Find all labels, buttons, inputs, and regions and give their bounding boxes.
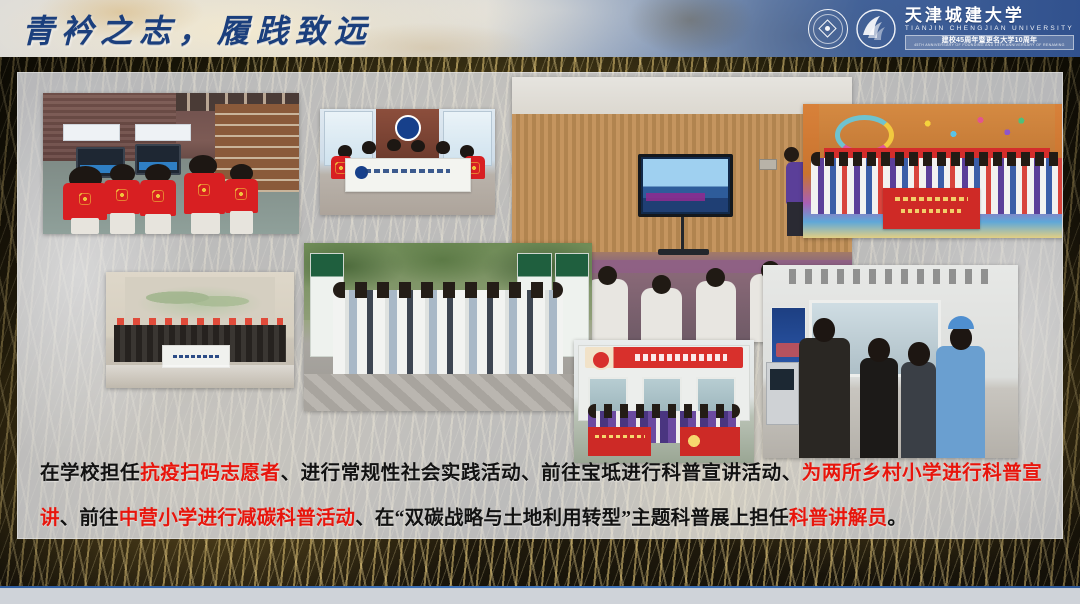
photo-village-service-center	[574, 340, 754, 463]
caption-segment-5: 中营小学进行减碳科普活动	[119, 508, 355, 529]
photo-outdoor-group	[304, 243, 592, 411]
photo-hall-group	[106, 272, 294, 388]
university-name-cn: 天津城建大学	[905, 7, 1074, 25]
slide-caption: 在学校担任抗疫扫码志愿者、进行常规性社会实践活动、前往宝坻进行科普宣讲活动、为两…	[40, 451, 1042, 539]
seal-core-icon	[819, 19, 837, 37]
photo-primary-school-group	[803, 104, 1063, 238]
photo-collage	[18, 73, 1063, 428]
university-logo-group: 天津城建大学 TIANJIN CHENGJIAN UNIVERSITY 建校45…	[808, 5, 1074, 52]
caption-segment-1: 抗疫扫码志愿者	[140, 463, 280, 484]
photo-scene	[803, 104, 1063, 238]
page-title: 青衿之志，履践致远	[22, 6, 373, 52]
slide-root: 青衿之志，履践致远 天津城建大学 TIANJIN CHENGJIAN UNIVE…	[0, 0, 1080, 588]
photo-service-hall-queue	[763, 265, 1018, 458]
footer-strip	[0, 589, 1080, 604]
photo-scene	[574, 340, 754, 463]
university-wave-mark-icon	[855, 8, 897, 50]
content-panel: 在学校担任抗疫扫码志愿者、进行常规性社会实践活动、前往宝坻进行科普宣讲活动、为两…	[17, 72, 1063, 539]
caption-segment-6: 、在“双碳战略与土地利用转型”主题科普展上担任	[355, 508, 789, 529]
photo-scene	[106, 272, 294, 388]
caption-segment-2: 、进行常规性社会实践活动、前往宝坻进行科普宣讲活动、	[281, 463, 802, 484]
photo-scene	[763, 265, 1018, 458]
photo-scene	[320, 109, 495, 215]
anniversary-label-en: 45TH ANNIVERSARY OF FOUNDING AND 10TH AN…	[914, 44, 1065, 48]
photo-library-volunteers	[43, 93, 299, 234]
university-name-block: 天津城建大学 TIANJIN CHENGJIAN UNIVERSITY 建校45…	[904, 7, 1074, 50]
photo-scene	[43, 93, 299, 234]
caption-segment-8: 。	[887, 508, 907, 529]
university-seal-icon	[808, 9, 848, 49]
caption-segment-0: 在学校担任	[40, 463, 140, 484]
university-name-en: TIANJIN CHENGJIAN UNIVERSITY	[905, 26, 1074, 33]
photo-scene	[304, 243, 592, 411]
caption-segment-4: 、前往	[60, 508, 119, 529]
caption-segment-7: 科普讲解员	[789, 508, 888, 529]
bottom-blue-rule	[0, 586, 1080, 588]
anniversary-badge: 建校45周年暨更名大学10周年 45TH ANNIVERSARY OF FOUN…	[905, 35, 1074, 51]
photo-school-banner-group	[320, 109, 495, 215]
slide-header: 青衿之志，履践致远 天津城建大学 TIANJIN CHENGJIAN UNIVE…	[0, 0, 1080, 57]
